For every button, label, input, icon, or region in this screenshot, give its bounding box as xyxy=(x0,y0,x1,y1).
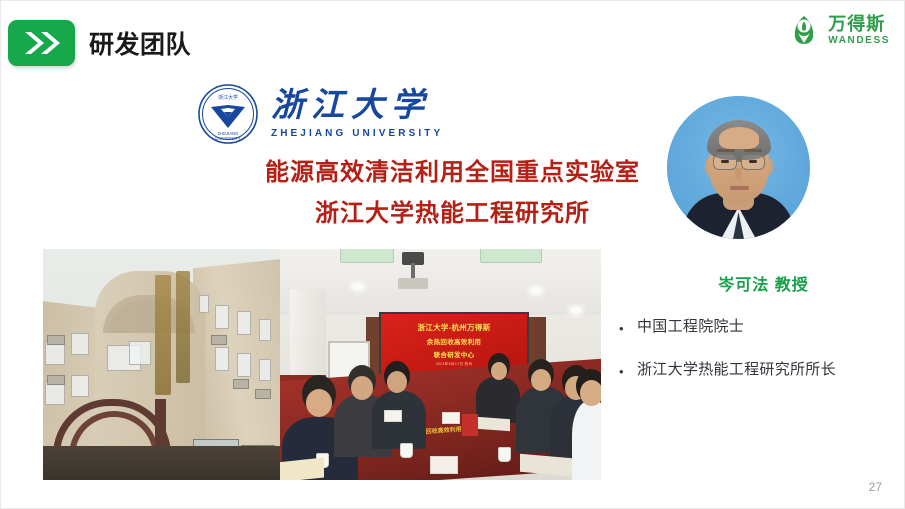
list-item: • 中国工程院院士 xyxy=(619,316,894,338)
svg-text:浙江大学: 浙江大学 xyxy=(218,94,238,101)
bullet-icon: • xyxy=(619,359,637,378)
university-name-en: ZHEJIANG UNIVERSITY xyxy=(271,128,443,139)
university-logo: 浙江大学 ZHEJIANG UNIVERSITY 浙江大学 ZHEJIANG U… xyxy=(197,83,443,145)
brand-logo: 万得斯 WANDESS xyxy=(787,13,890,47)
screen-line-3: 联合研发中心 xyxy=(434,349,475,359)
slide-canvas: 研发团队 万得斯 WANDESS 浙江大学 ZHEJIA xyxy=(0,0,905,509)
credential-text: 中国工程院院士 xyxy=(637,316,744,338)
credential-text: 浙江大学热能工程研究所所长 xyxy=(637,359,836,381)
credentials-list: • 中国工程院院士 • 浙江大学热能工程研究所所长 xyxy=(619,316,894,402)
university-name-cn: 浙江大学 xyxy=(271,89,443,124)
zhejiang-university-seal-icon: 浙江大学 ZHEJIANG UNIVERSITY xyxy=(197,83,259,145)
institute-building-photo xyxy=(43,249,280,480)
joint-center-meeting-photo: 浙江大学-杭州万得斯 余热回收高效利用 联合研发中心 2024年5月17日 杭州… xyxy=(280,249,601,480)
screen-line-2: 余热回收高效利用 xyxy=(427,336,481,346)
person-name: 岑可法 教授 xyxy=(621,271,905,295)
screen-line-1: 浙江大学-杭州万得斯 xyxy=(418,322,491,333)
page-title: 研发团队 xyxy=(89,25,191,61)
page-number: 27 xyxy=(869,480,882,494)
double-chevron-right-icon xyxy=(22,30,62,56)
screen-line-4: 2024年5月17日 杭州 xyxy=(436,362,473,367)
cen-kefa-portrait xyxy=(667,96,810,239)
photo-strip: 浙江大学-杭州万得斯 余热回收高效利用 联合研发中心 2024年5月17日 杭州… xyxy=(43,249,601,480)
list-item: • 浙江大学热能工程研究所所长 xyxy=(619,359,894,381)
svg-text:UNIVERSITY: UNIVERSITY xyxy=(215,136,240,141)
brand-name-cn: 万得斯 xyxy=(828,15,890,33)
wandess-leaf-logo-icon xyxy=(787,13,821,47)
bullet-icon: • xyxy=(619,316,637,335)
section-badge xyxy=(8,20,75,66)
brand-name-en: WANDESS xyxy=(828,36,890,46)
